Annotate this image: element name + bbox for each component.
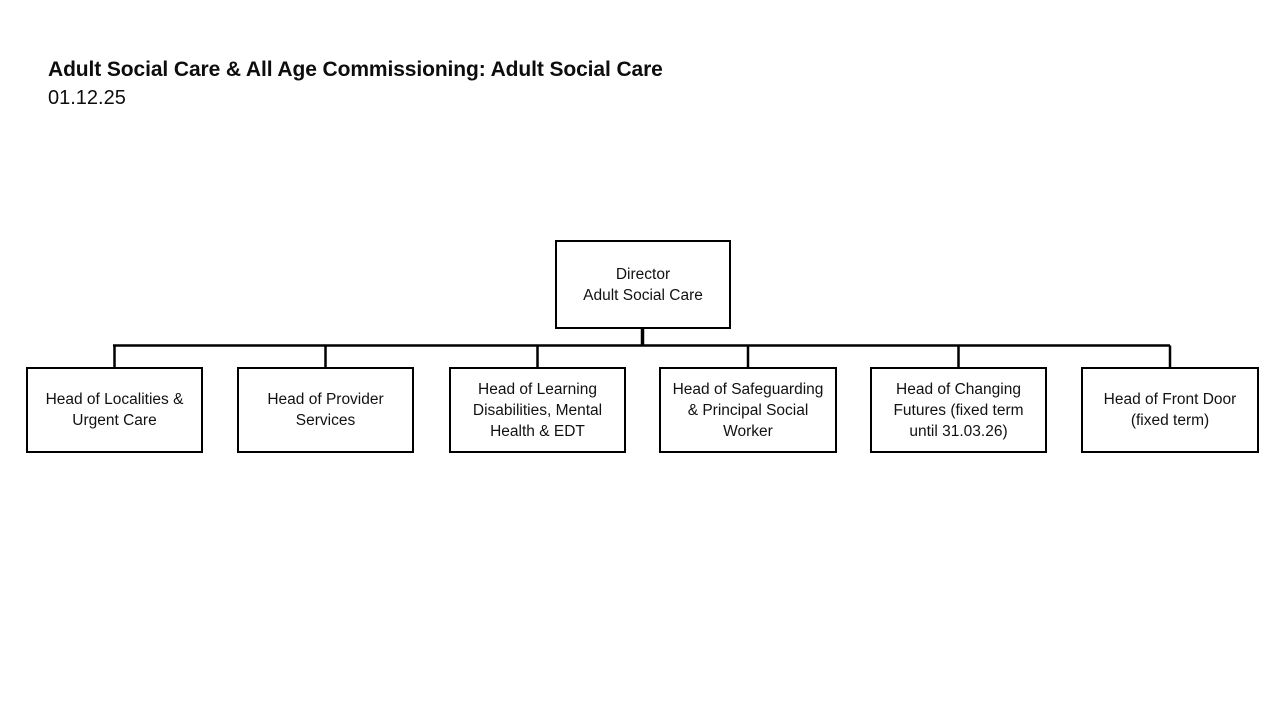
org-chart-canvas: Adult Social Care & All Age Commissionin… — [0, 0, 1280, 720]
org-node-head-front-door[interactable]: Head of Front Door (fixed term) — [1081, 367, 1259, 453]
org-node-head-localities-urgent-care[interactable]: Head of Localities & Urgent Care — [26, 367, 203, 453]
org-node-director[interactable]: Director Adult Social Care — [555, 240, 731, 329]
org-node-head-learning-disabilities-mental-health-edt[interactable]: Head of Learning Disabilities, Mental He… — [449, 367, 626, 453]
org-node-label: Head of Provider Services — [265, 389, 385, 431]
org-node-head-provider-services[interactable]: Head of Provider Services — [237, 367, 414, 453]
org-node-label: Head of Changing Futures (fixed term unt… — [891, 379, 1025, 442]
chart-date: 01.12.25 — [48, 85, 948, 111]
org-node-label: Director Adult Social Care — [581, 264, 705, 306]
org-node-label: Head of Localities & Urgent Care — [44, 389, 186, 431]
org-node-head-changing-futures[interactable]: Head of Changing Futures (fixed term unt… — [870, 367, 1047, 453]
org-node-label: Head of Learning Disabilities, Mental He… — [471, 379, 604, 442]
chart-header: Adult Social Care & All Age Commissionin… — [48, 56, 948, 111]
page-title: Adult Social Care & All Age Commissionin… — [48, 56, 948, 83]
org-node-label: Head of Front Door (fixed term) — [1102, 389, 1239, 431]
org-node-label: Head of Safeguarding & Principal Social … — [661, 379, 835, 442]
org-node-head-safeguarding-principal-social-worker[interactable]: Head of Safeguarding & Principal Social … — [659, 367, 837, 453]
